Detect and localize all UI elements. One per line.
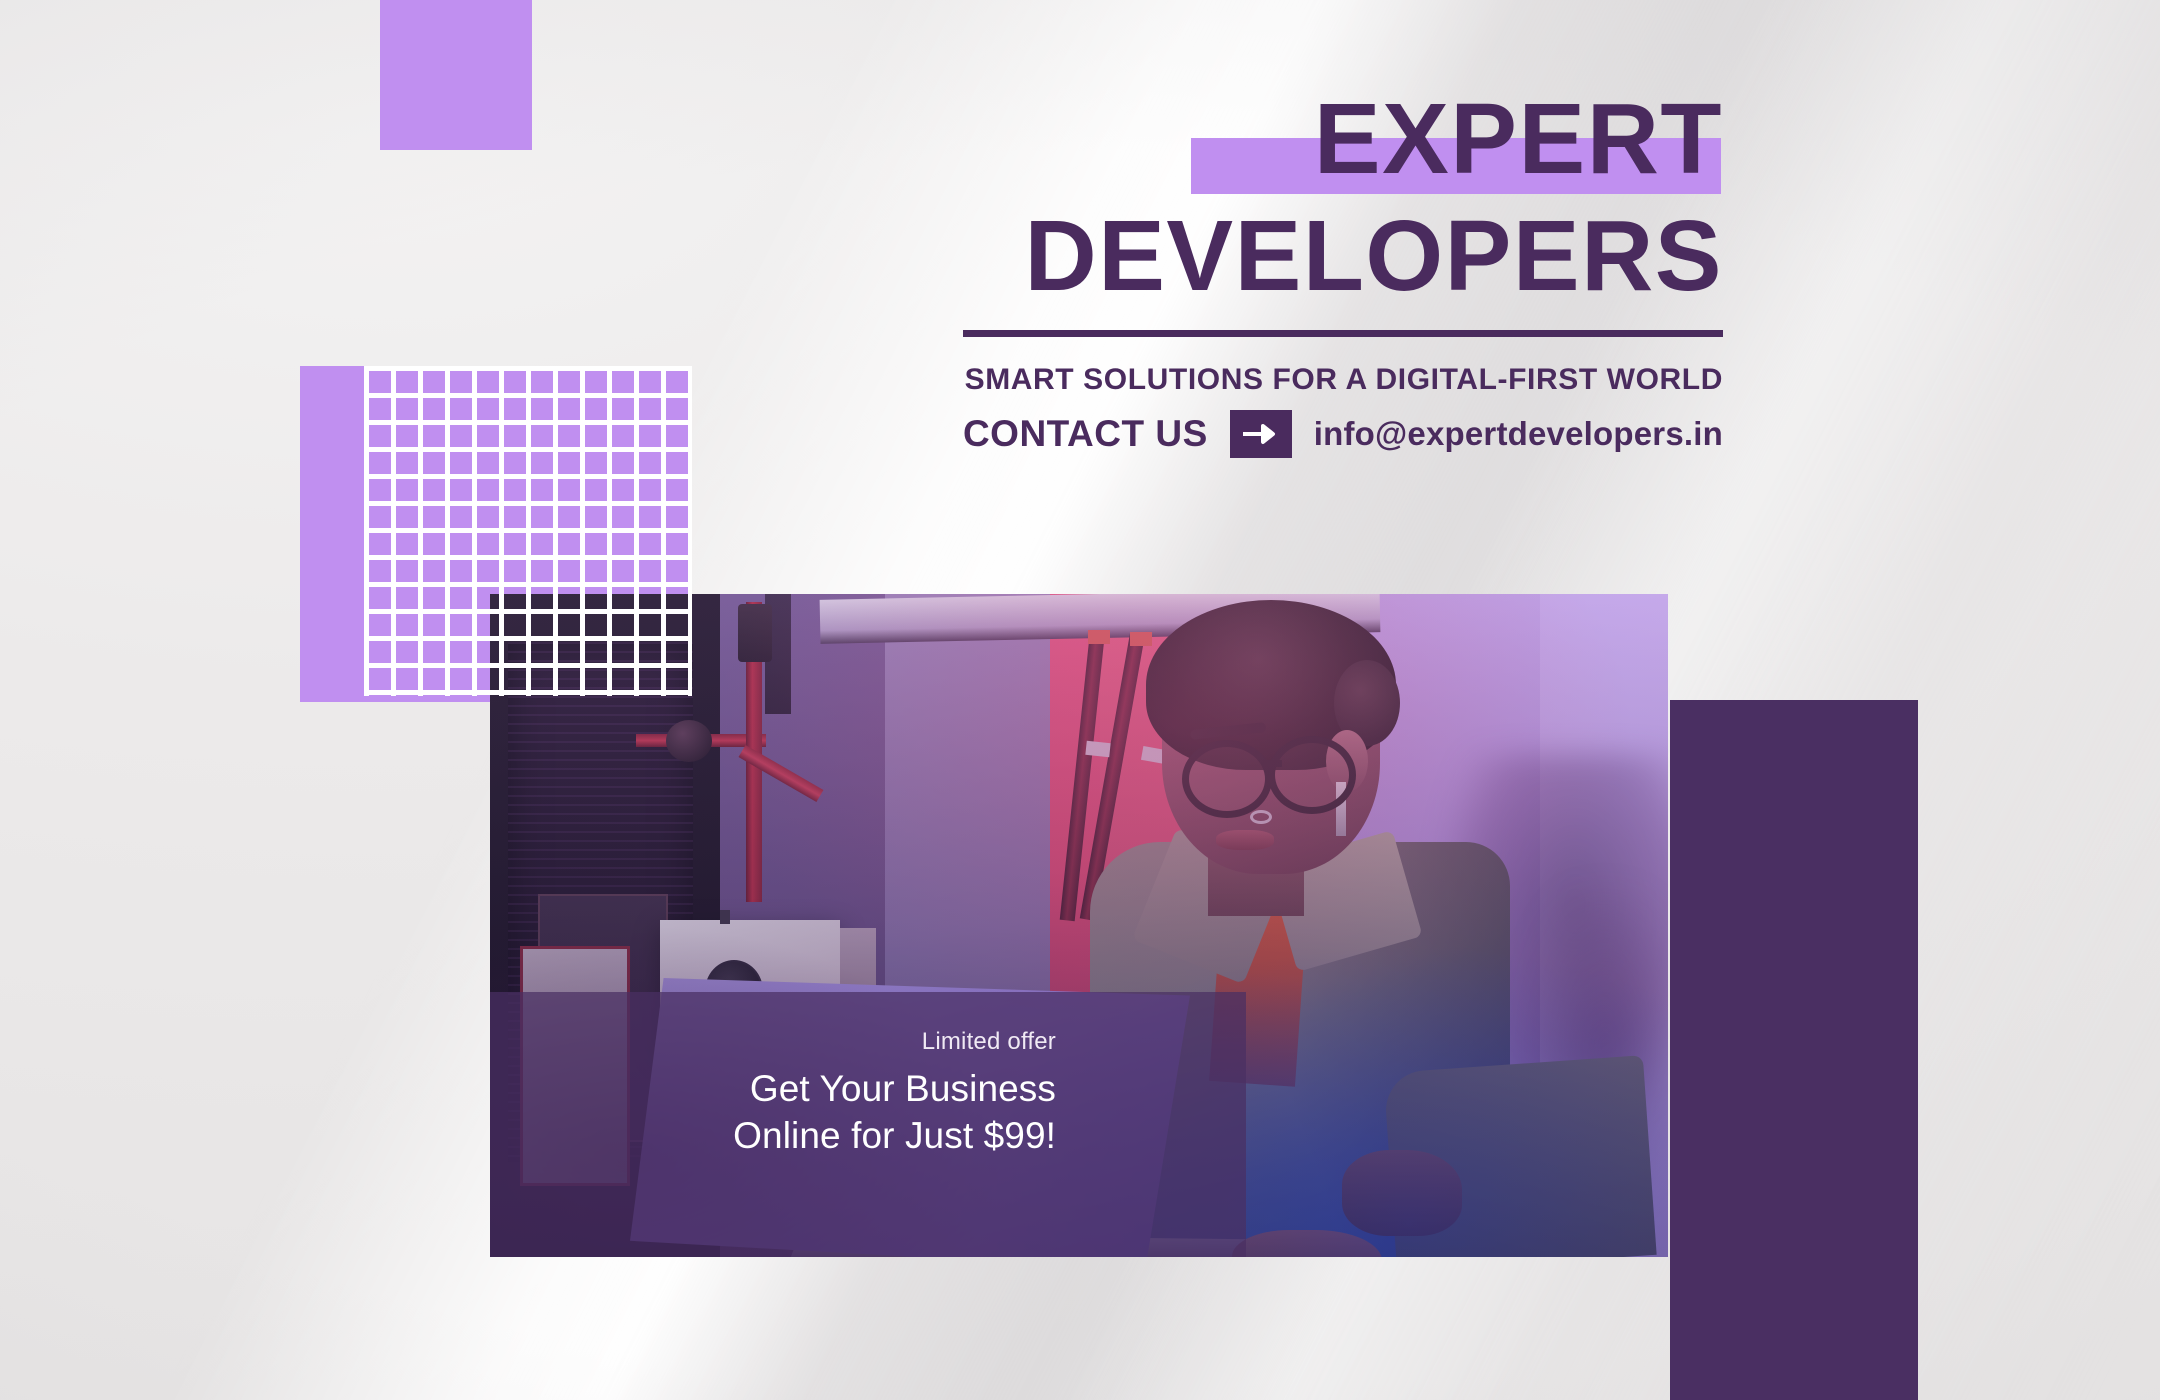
contact-label: CONTACT US	[963, 413, 1208, 455]
headline-line-2: DEVELOPERS	[963, 198, 1723, 314]
contact-email[interactable]: info@expertdevelopers.in	[1314, 415, 1723, 453]
contact-row[interactable]: CONTACT US info@expertdevelopers.in	[963, 410, 1723, 458]
headline-block: EXPERT DEVELOPERS SMART SOLUTIONS FOR A …	[963, 80, 1723, 397]
promo-headline-line-2: Online for Just $99!	[490, 1113, 1056, 1160]
promo-headline-line-1: Get Your Business	[490, 1066, 1056, 1113]
promo-text-block: Limited offer Get Your Business Online f…	[490, 992, 1246, 1257]
poster-canvas: Limited offer Get Your Business Online f…	[0, 0, 2160, 1400]
decorative-square-top-left	[380, 0, 532, 150]
headline-row-1: EXPERT	[963, 80, 1723, 198]
headline-divider-rule	[963, 330, 1723, 337]
arrow-right-icon[interactable]	[1230, 410, 1292, 458]
tagline: SMART SOLUTIONS FOR A DIGITAL-FIRST WORL…	[963, 363, 1723, 397]
decorative-dark-block-right	[1670, 700, 1918, 1400]
decorative-grid-lines	[364, 366, 692, 696]
promo-kicker: Limited offer	[490, 1028, 1056, 1056]
headline-line-1: EXPERT	[1314, 83, 1723, 195]
